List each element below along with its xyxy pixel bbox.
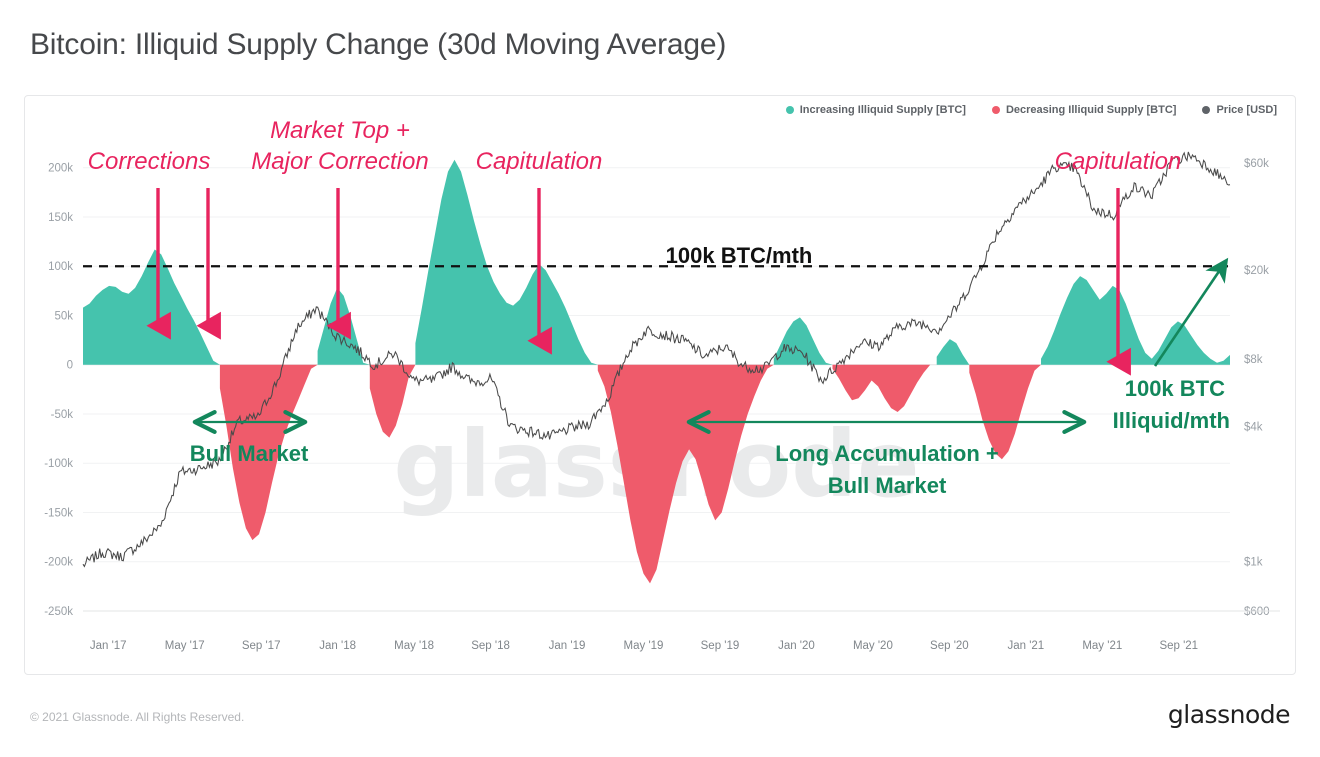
legend-item-0[interactable]: Increasing Illiquid Supply [BTC]: [786, 104, 966, 116]
y-axis-right-tick-label: $600: [1244, 606, 1270, 618]
page-title: Bitcoin: Illiquid Supply Change (30d Mov…: [30, 28, 726, 62]
annotation-capitulation-1: Capitulation: [476, 148, 603, 175]
legend-label: Price [USD]: [1216, 104, 1277, 116]
y-axis-tick-label: -150k: [44, 507, 73, 519]
x-axis-tick-label: Jan '21: [1007, 640, 1044, 652]
x-axis-tick-label: Jan '17: [90, 640, 127, 652]
x-axis-tick-label: Jan '19: [549, 640, 586, 652]
x-axis-tick-label: May '20: [853, 640, 893, 652]
chart-page: Bitcoin: Illiquid Supply Change (30d Mov…: [0, 0, 1320, 757]
chart-canvas[interactable]: 200k150k100k50k0-50k-100k-150k-200k-250k…: [25, 96, 1295, 674]
x-axis-tick-label: Jan '20: [778, 640, 815, 652]
legend-label: Increasing Illiquid Supply [BTC]: [800, 104, 966, 116]
y-axis-right-tick-label: $4k: [1244, 421, 1263, 433]
annotation-illiquid-line2: Illiquid/mth: [1113, 408, 1230, 433]
annotation-threshold-label: 100k BTC/mth: [666, 243, 813, 268]
y-axis-right-tick-label: $8k: [1244, 354, 1263, 366]
y-axis-tick-label: -50k: [51, 409, 74, 421]
x-axis-tick-label: May '17: [165, 640, 205, 652]
x-axis-tick-label: Jan '18: [319, 640, 356, 652]
annotation-bull-market: Bull Market: [190, 441, 309, 466]
x-axis-tick-label: Sep '21: [1159, 640, 1198, 652]
x-axis-tick-label: Sep '19: [701, 640, 740, 652]
glassnode-logo: glassnode: [1168, 700, 1290, 729]
annotation-market-top-line1: Market Top +: [270, 117, 410, 144]
annotation-market-top-line2: Major Correction: [251, 148, 428, 175]
y-axis-tick-label: 100k: [48, 261, 73, 273]
y-axis-right-tick-label: $1k: [1244, 556, 1263, 568]
x-axis-tick-label: May '19: [624, 640, 664, 652]
y-axis-tick-label: 150k: [48, 212, 73, 224]
annotation-corrections: Corrections: [88, 148, 211, 175]
x-axis-tick-label: Sep '18: [471, 640, 510, 652]
increasing-supply-area[interactable]: [83, 160, 1230, 365]
x-axis-tick-label: Sep '20: [930, 640, 969, 652]
legend-item-1[interactable]: Decreasing Illiquid Supply [BTC]: [992, 104, 1177, 116]
chart-legend: Increasing Illiquid Supply [BTC]Decreasi…: [786, 104, 1277, 116]
annotation-illiquid-line1: 100k BTC: [1125, 376, 1225, 401]
copyright-text: © 2021 Glassnode. All Rights Reserved.: [30, 710, 244, 724]
y-axis-tick-label: -100k: [44, 458, 73, 470]
legend-dot-icon: [1202, 106, 1210, 114]
annotation-capitulation-2: Capitulation: [1055, 148, 1182, 175]
legend-label: Decreasing Illiquid Supply [BTC]: [1006, 104, 1177, 116]
x-axis-tick-label: Sep '17: [242, 640, 281, 652]
y-axis-tick-label: -200k: [44, 557, 73, 569]
legend-dot-icon: [992, 106, 1000, 114]
legend-item-2[interactable]: Price [USD]: [1202, 104, 1277, 116]
y-axis-right-tick-label: $60k: [1244, 158, 1269, 170]
y-axis-tick-label: 0: [67, 360, 73, 372]
y-axis-tick-label: 50k: [54, 310, 73, 322]
annotation-long-accumulation-line1: Long Accumulation +: [775, 441, 998, 466]
chart-card: Increasing Illiquid Supply [BTC]Decreasi…: [24, 95, 1296, 675]
y-axis-tick-label: -250k: [44, 606, 73, 618]
y-axis-tick-label: 200k: [48, 163, 73, 175]
x-axis-tick-label: May '21: [1082, 640, 1122, 652]
x-axis-tick-label: May '18: [394, 640, 434, 652]
y-axis-right-tick-label: $20k: [1244, 265, 1269, 277]
legend-dot-icon: [786, 106, 794, 114]
annotation-long-accumulation-line2: Bull Market: [828, 473, 947, 498]
